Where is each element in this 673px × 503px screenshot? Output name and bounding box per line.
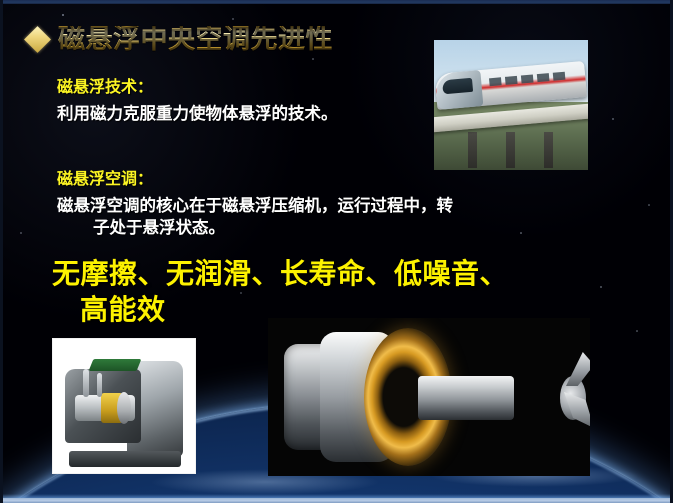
highlight-line1: 无摩擦、无润滑、长寿命、低噪音、 — [52, 258, 508, 289]
viaduct-pier — [506, 132, 515, 168]
maglev-train-photo — [434, 40, 588, 170]
control-board — [89, 359, 142, 371]
section-body: 磁悬浮空调的核心在于磁悬浮压缩机，运行过程中，转 子处于悬浮状态。 — [57, 196, 587, 240]
train-windshield — [442, 78, 473, 95]
section-body: 利用磁力克服重力使物体悬浮的技术。 — [57, 104, 477, 126]
slide-title-row: 磁悬浮中央空调先进性 — [28, 26, 333, 53]
section-maglev-air-conditioning: 磁悬浮空调： 磁悬浮空调的核心在于磁悬浮压缩机，运行过程中，转 子处于悬浮状态。 — [57, 170, 597, 240]
section-maglev-technology: 磁悬浮技术： 利用磁力克服重力使物体悬浮的技术。 — [57, 78, 477, 126]
compressor-cutaway-photo — [52, 338, 196, 474]
compressor-base — [69, 451, 181, 467]
section-label: 磁悬浮技术： — [57, 78, 477, 98]
refrigerant-pipe — [83, 369, 89, 397]
viaduct-pier — [544, 132, 553, 168]
page-title: 磁悬浮中央空调先进性 — [58, 26, 333, 53]
section-label: 磁悬浮空调： — [57, 170, 597, 190]
section-body-line1: 磁悬浮空调的核心在于磁悬浮压缩机，运行过程中，转 — [57, 197, 453, 215]
refrigerant-pipe — [97, 373, 102, 397]
train-nose — [434, 70, 483, 110]
frame-strip-bottom — [0, 498, 673, 503]
frame-edge-left — [0, 0, 3, 503]
diamond-bullet-icon — [24, 26, 51, 53]
bearing-disc — [117, 392, 131, 424]
presentation-slide: 磁悬浮中央空调先进性 磁悬浮技术： 利用磁力克服重力使物体悬浮的技术。 磁悬浮空… — [0, 0, 673, 503]
rotor-assembly-render — [268, 318, 590, 476]
viaduct-pier — [468, 132, 477, 168]
section-body-line2: 子处于悬浮状态。 — [57, 218, 587, 240]
frame-strip-top — [0, 0, 673, 4]
